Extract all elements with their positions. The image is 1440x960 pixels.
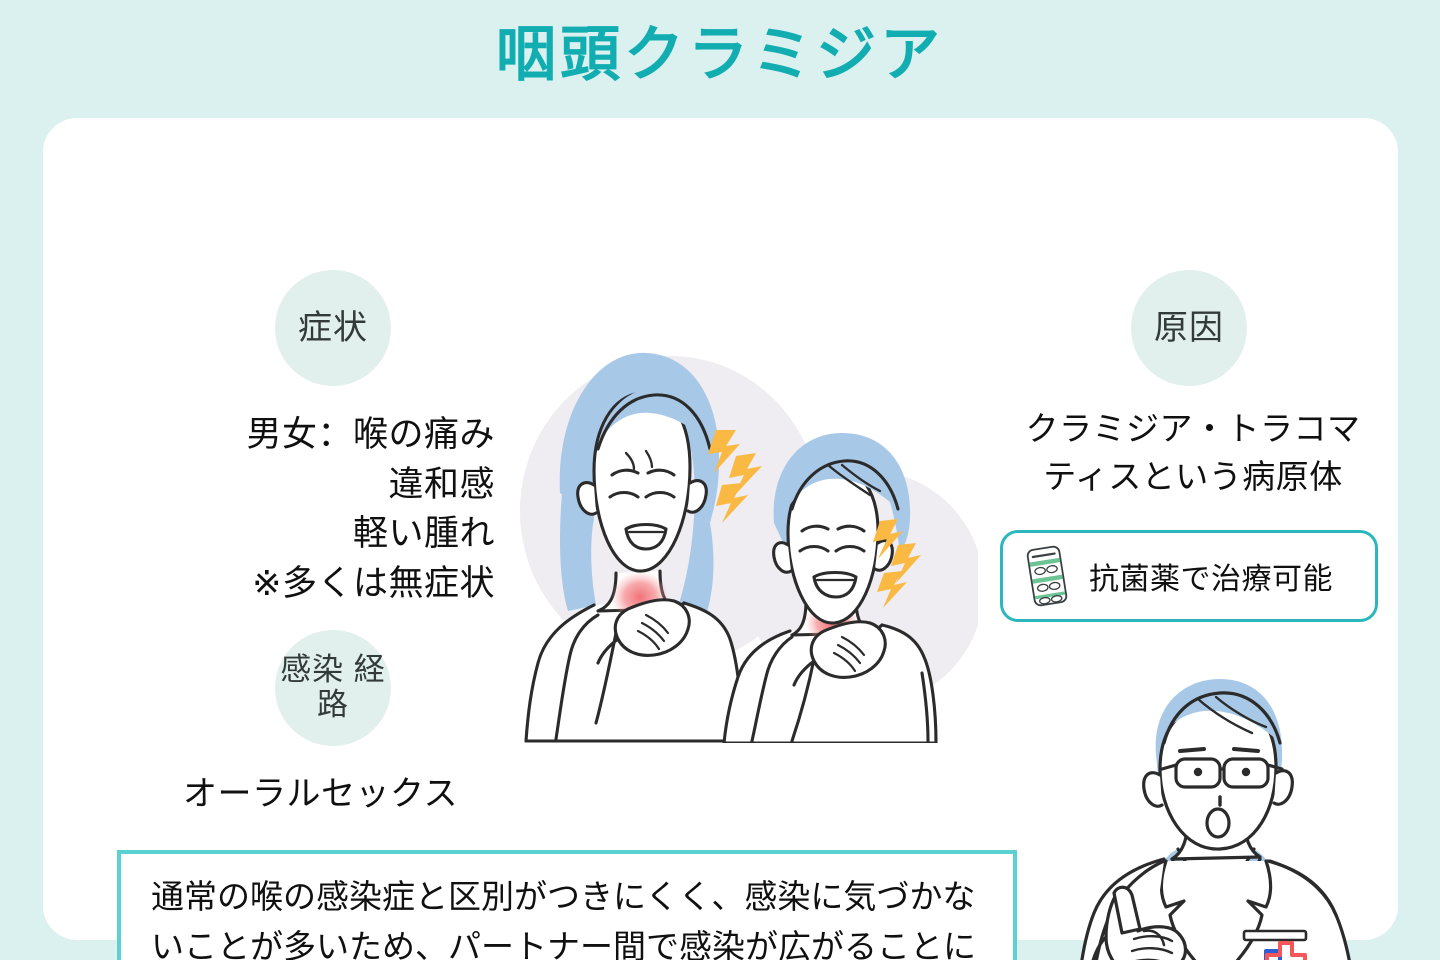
warning-text: 通常の喉の感染症と区別がつきにくく、感染に気づかないことが多いため、パートナー間…: [151, 872, 991, 960]
cause-body-text: クラミジア・トラコマ ティスという病原体: [993, 405, 1393, 501]
treatment-callout-box: 抗菌薬で治療可能: [1000, 530, 1378, 622]
section-bubble-cause: 原因: [1131, 270, 1247, 386]
section-bubble-route: 感染 経路: [275, 630, 391, 746]
symptoms-body-text: 男女：喉の痛み 違和感 軽い腫れ ※多くは無症状: [195, 410, 495, 609]
pill-blister-icon: [1019, 544, 1075, 608]
doctor-pointing-illustration: [1048, 663, 1378, 960]
section-bubble-cause-label: 原因: [1154, 309, 1224, 347]
couple-sore-throat-illustration: [498, 333, 978, 743]
page-title: 咽頭クラミジア: [0, 16, 1440, 94]
infographic-canvas: 咽頭クラミジア 症状 男女：喉の痛み 違和感 軽い腫れ ※多くは無症状 感染 経…: [0, 0, 1440, 960]
content-card: 症状 男女：喉の痛み 違和感 軽い腫れ ※多くは無症状 感染 経路 オーラルセッ…: [43, 118, 1398, 940]
section-bubble-symptoms: 症状: [275, 270, 391, 386]
section-bubble-symptoms-label: 症状: [298, 309, 368, 347]
route-body-text: オーラルセックス: [183, 770, 503, 818]
section-bubble-route-label: 感染 経路: [275, 653, 391, 722]
coat-pocket-line: [1244, 931, 1306, 940]
treatment-label: 抗菌薬で治療可能: [1089, 554, 1333, 598]
warning-box: 通常の喉の感染症と区別がつきにくく、感染に気づかないことが多いため、パートナー間…: [117, 850, 1017, 960]
